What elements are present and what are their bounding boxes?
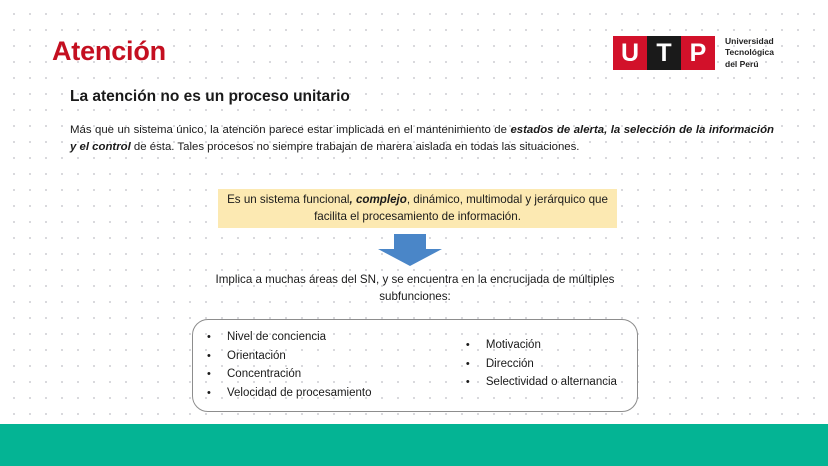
list-item: • Nivel de conciencia [207, 329, 430, 347]
bullet-dot-icon: • [207, 366, 227, 384]
logo-letter-p: P [681, 36, 715, 70]
utp-logo-wordmark: Universidad Tecnológica del Perú [725, 36, 774, 70]
list-item-label: Nivel de conciencia [227, 329, 430, 347]
paragraph-part-1: Más que un sistema único, la atención pa… [70, 124, 510, 136]
list-item: • Motivación [466, 337, 637, 355]
list-item: • Selectividad o alternancia [466, 374, 637, 392]
bullet-dot-icon: • [207, 385, 227, 403]
logo-letter-u: U [613, 36, 647, 70]
slide-canvas: Atención U T P Universidad Tecnológica d… [0, 0, 828, 466]
callout-part-1: Es un sistema funcional [227, 193, 349, 206]
utp-logo: U T P Universidad Tecnológica del Perú [613, 36, 774, 70]
list-item: • Velocidad de procesamiento [207, 385, 430, 403]
footer-bar [0, 424, 828, 466]
callout-text: Es un sistema funcional, complejo, dinám… [226, 192, 609, 225]
logo-wordmark-line-2: Tecnológica [725, 47, 774, 58]
bullet-dot-icon: • [207, 329, 227, 347]
bullet-dot-icon: • [466, 374, 486, 392]
intro-paragraph: Más que un sistema único, la atención pa… [70, 122, 774, 157]
utp-logo-mark: U T P [613, 36, 715, 70]
list-item-label: Motivación [486, 337, 637, 355]
bullet-dot-icon: • [207, 348, 227, 366]
list-item: • Dirección [466, 356, 637, 374]
list-item-label: Velocidad de procesamiento [227, 385, 430, 403]
list-item-label: Selectividad o alternancia [486, 374, 637, 392]
list-item-label: Orientación [227, 348, 430, 366]
list-item-label: Dirección [486, 356, 637, 374]
paragraph-part-2: de ésta. Tales procesos no siempre traba… [131, 141, 580, 153]
page-subtitle: La atención no es un proceso unitario [70, 88, 350, 107]
logo-wordmark-line-1: Universidad [725, 36, 774, 47]
highlight-callout-box: Es un sistema funcional, complejo, dinám… [218, 189, 617, 228]
down-arrow-icon [372, 234, 448, 266]
subfunctions-box: • Nivel de conciencia • Orientación • Co… [192, 319, 638, 412]
callout-emphasis: , complejo [350, 193, 407, 206]
bullet-column-left: • Nivel de conciencia • Orientación • Co… [193, 320, 430, 411]
list-item-label: Concentración [227, 366, 430, 384]
logo-wordmark-line-3: del Perú [725, 59, 774, 70]
lead-in-text: Implica a muchas áreas del SN, y se encu… [190, 271, 640, 306]
list-item: • Concentración [207, 366, 430, 384]
list-item: • Orientación [207, 348, 430, 366]
logo-letter-t: T [647, 36, 681, 70]
page-title: Atención [52, 38, 166, 65]
bullet-dot-icon: • [466, 337, 486, 355]
bullet-dot-icon: • [466, 356, 486, 374]
bullet-column-right: • Motivación • Dirección • Selectividad … [430, 320, 637, 411]
